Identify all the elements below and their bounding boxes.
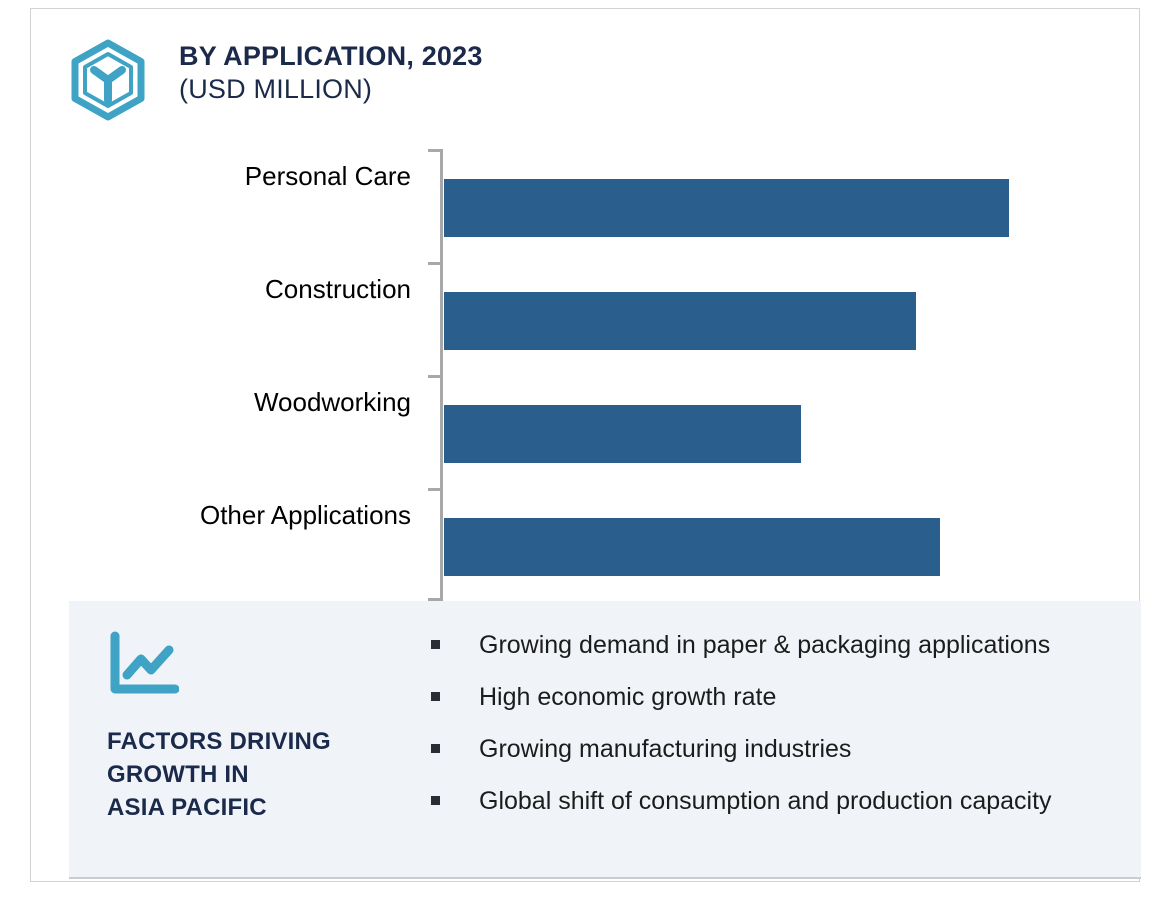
factors-heading-line-3: ASIA PACIFIC xyxy=(107,791,407,824)
list-item-label: Growing manufacturing industries xyxy=(479,735,851,763)
factors-panel: FACTORS DRIVING GROWTH IN ASIA PACIFIC G… xyxy=(69,601,1141,879)
bar-row: Other Applications xyxy=(31,480,1139,593)
list-item: Growing manufacturing industries xyxy=(431,733,1131,766)
factors-heading: FACTORS DRIVING GROWTH IN ASIA PACIFIC xyxy=(107,725,407,824)
factors-left-column: FACTORS DRIVING GROWTH IN ASIA PACIFIC xyxy=(107,631,407,824)
bar-rect xyxy=(444,405,801,463)
list-item: Growing demand in paper & packaging appl… xyxy=(431,629,1131,662)
chart-title-block: BY APPLICATION, 2023 (USD MILLION) xyxy=(179,40,483,107)
page-title: BY APPLICATION, 2023 xyxy=(179,40,483,73)
square-bullet-icon xyxy=(431,744,440,753)
square-bullet-icon xyxy=(431,796,440,805)
list-item-label: Growing demand in paper & packaging appl… xyxy=(479,631,1050,659)
bar-label: Woodworking xyxy=(11,389,411,415)
bar-label: Construction xyxy=(11,276,411,302)
bar-row: Personal Care xyxy=(31,141,1139,254)
hexagon-cube-icon xyxy=(69,36,147,126)
bar-row: Woodworking xyxy=(31,367,1139,480)
bar-chart: Personal Care Construction Woodworking O… xyxy=(31,141,1139,601)
infographic-frame: BY APPLICATION, 2023 (USD MILLION) Perso… xyxy=(30,8,1140,882)
list-item: Global shift of consumption and producti… xyxy=(431,785,1131,818)
chart-header: BY APPLICATION, 2023 (USD MILLION) xyxy=(69,36,483,126)
page-subtitle: (USD MILLION) xyxy=(179,73,483,106)
bar-rect xyxy=(444,292,916,350)
list-item: High economic growth rate xyxy=(431,681,1131,714)
bar-label: Other Applications xyxy=(11,502,411,528)
bar-row: Construction xyxy=(31,254,1139,367)
line-chart-icon xyxy=(107,631,407,697)
factors-heading-line-1: FACTORS DRIVING xyxy=(107,725,407,758)
list-item-label: Global shift of consumption and producti… xyxy=(479,787,1052,815)
bar-rect xyxy=(444,179,1009,237)
factors-list: Growing demand in paper & packaging appl… xyxy=(431,629,1131,837)
bar-label: Personal Care xyxy=(11,163,411,189)
square-bullet-icon xyxy=(431,692,440,701)
factors-heading-line-2: GROWTH IN xyxy=(107,758,407,791)
bar-rect xyxy=(444,518,940,576)
list-item-label: High economic growth rate xyxy=(479,683,776,711)
square-bullet-icon xyxy=(431,640,440,649)
